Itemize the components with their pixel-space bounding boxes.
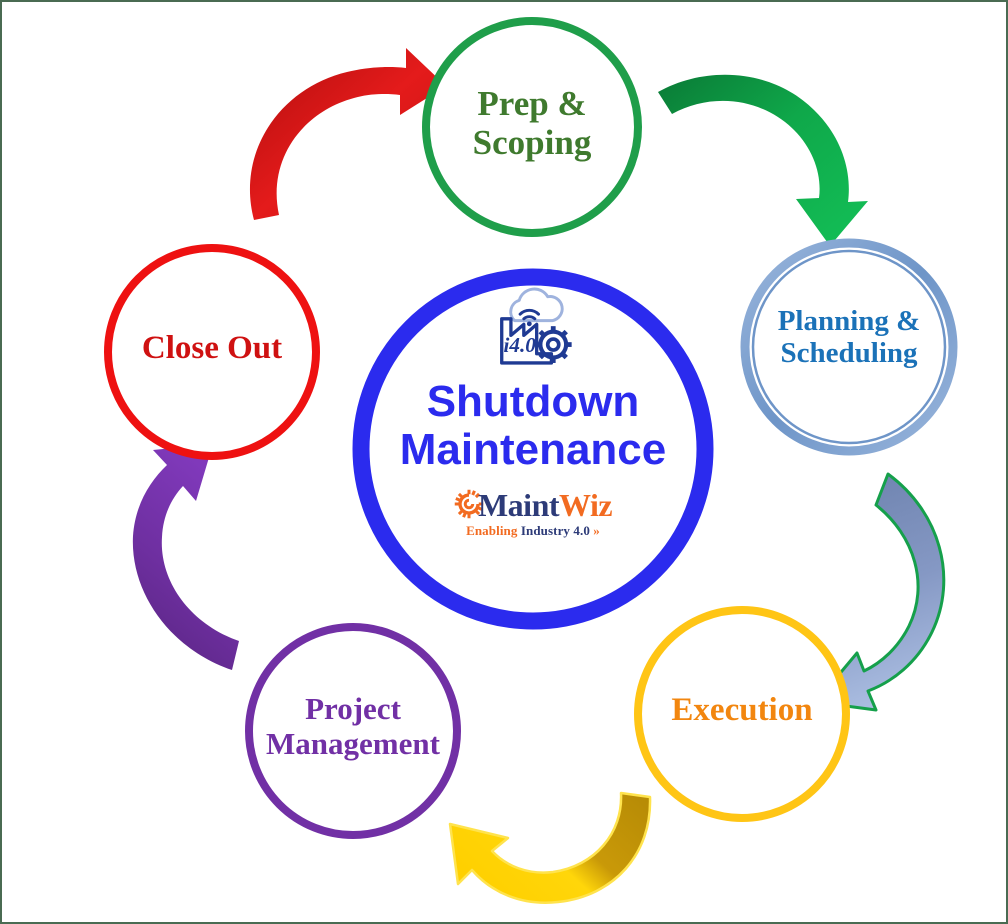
arrow-close-out-to-prep (250, 48, 446, 220)
shutdown-maintenance-diagram: Prep & Scoping Planning & Scheduling Exe… (0, 0, 1008, 924)
node-circle-planning-scheduling[interactable] (745, 243, 953, 451)
diagram-canvas (2, 2, 1008, 924)
arrow-prep-to-planning (658, 75, 868, 246)
arrow-execution-to-project (450, 793, 650, 903)
node-circle-close-out[interactable] (108, 248, 316, 456)
node-circle-project-management[interactable] (249, 627, 457, 835)
node-circle-execution[interactable] (638, 610, 846, 818)
arrow-project-to-close-out (133, 444, 239, 670)
node-circle-prep-scoping[interactable] (426, 21, 638, 233)
center-circle[interactable] (361, 277, 705, 621)
